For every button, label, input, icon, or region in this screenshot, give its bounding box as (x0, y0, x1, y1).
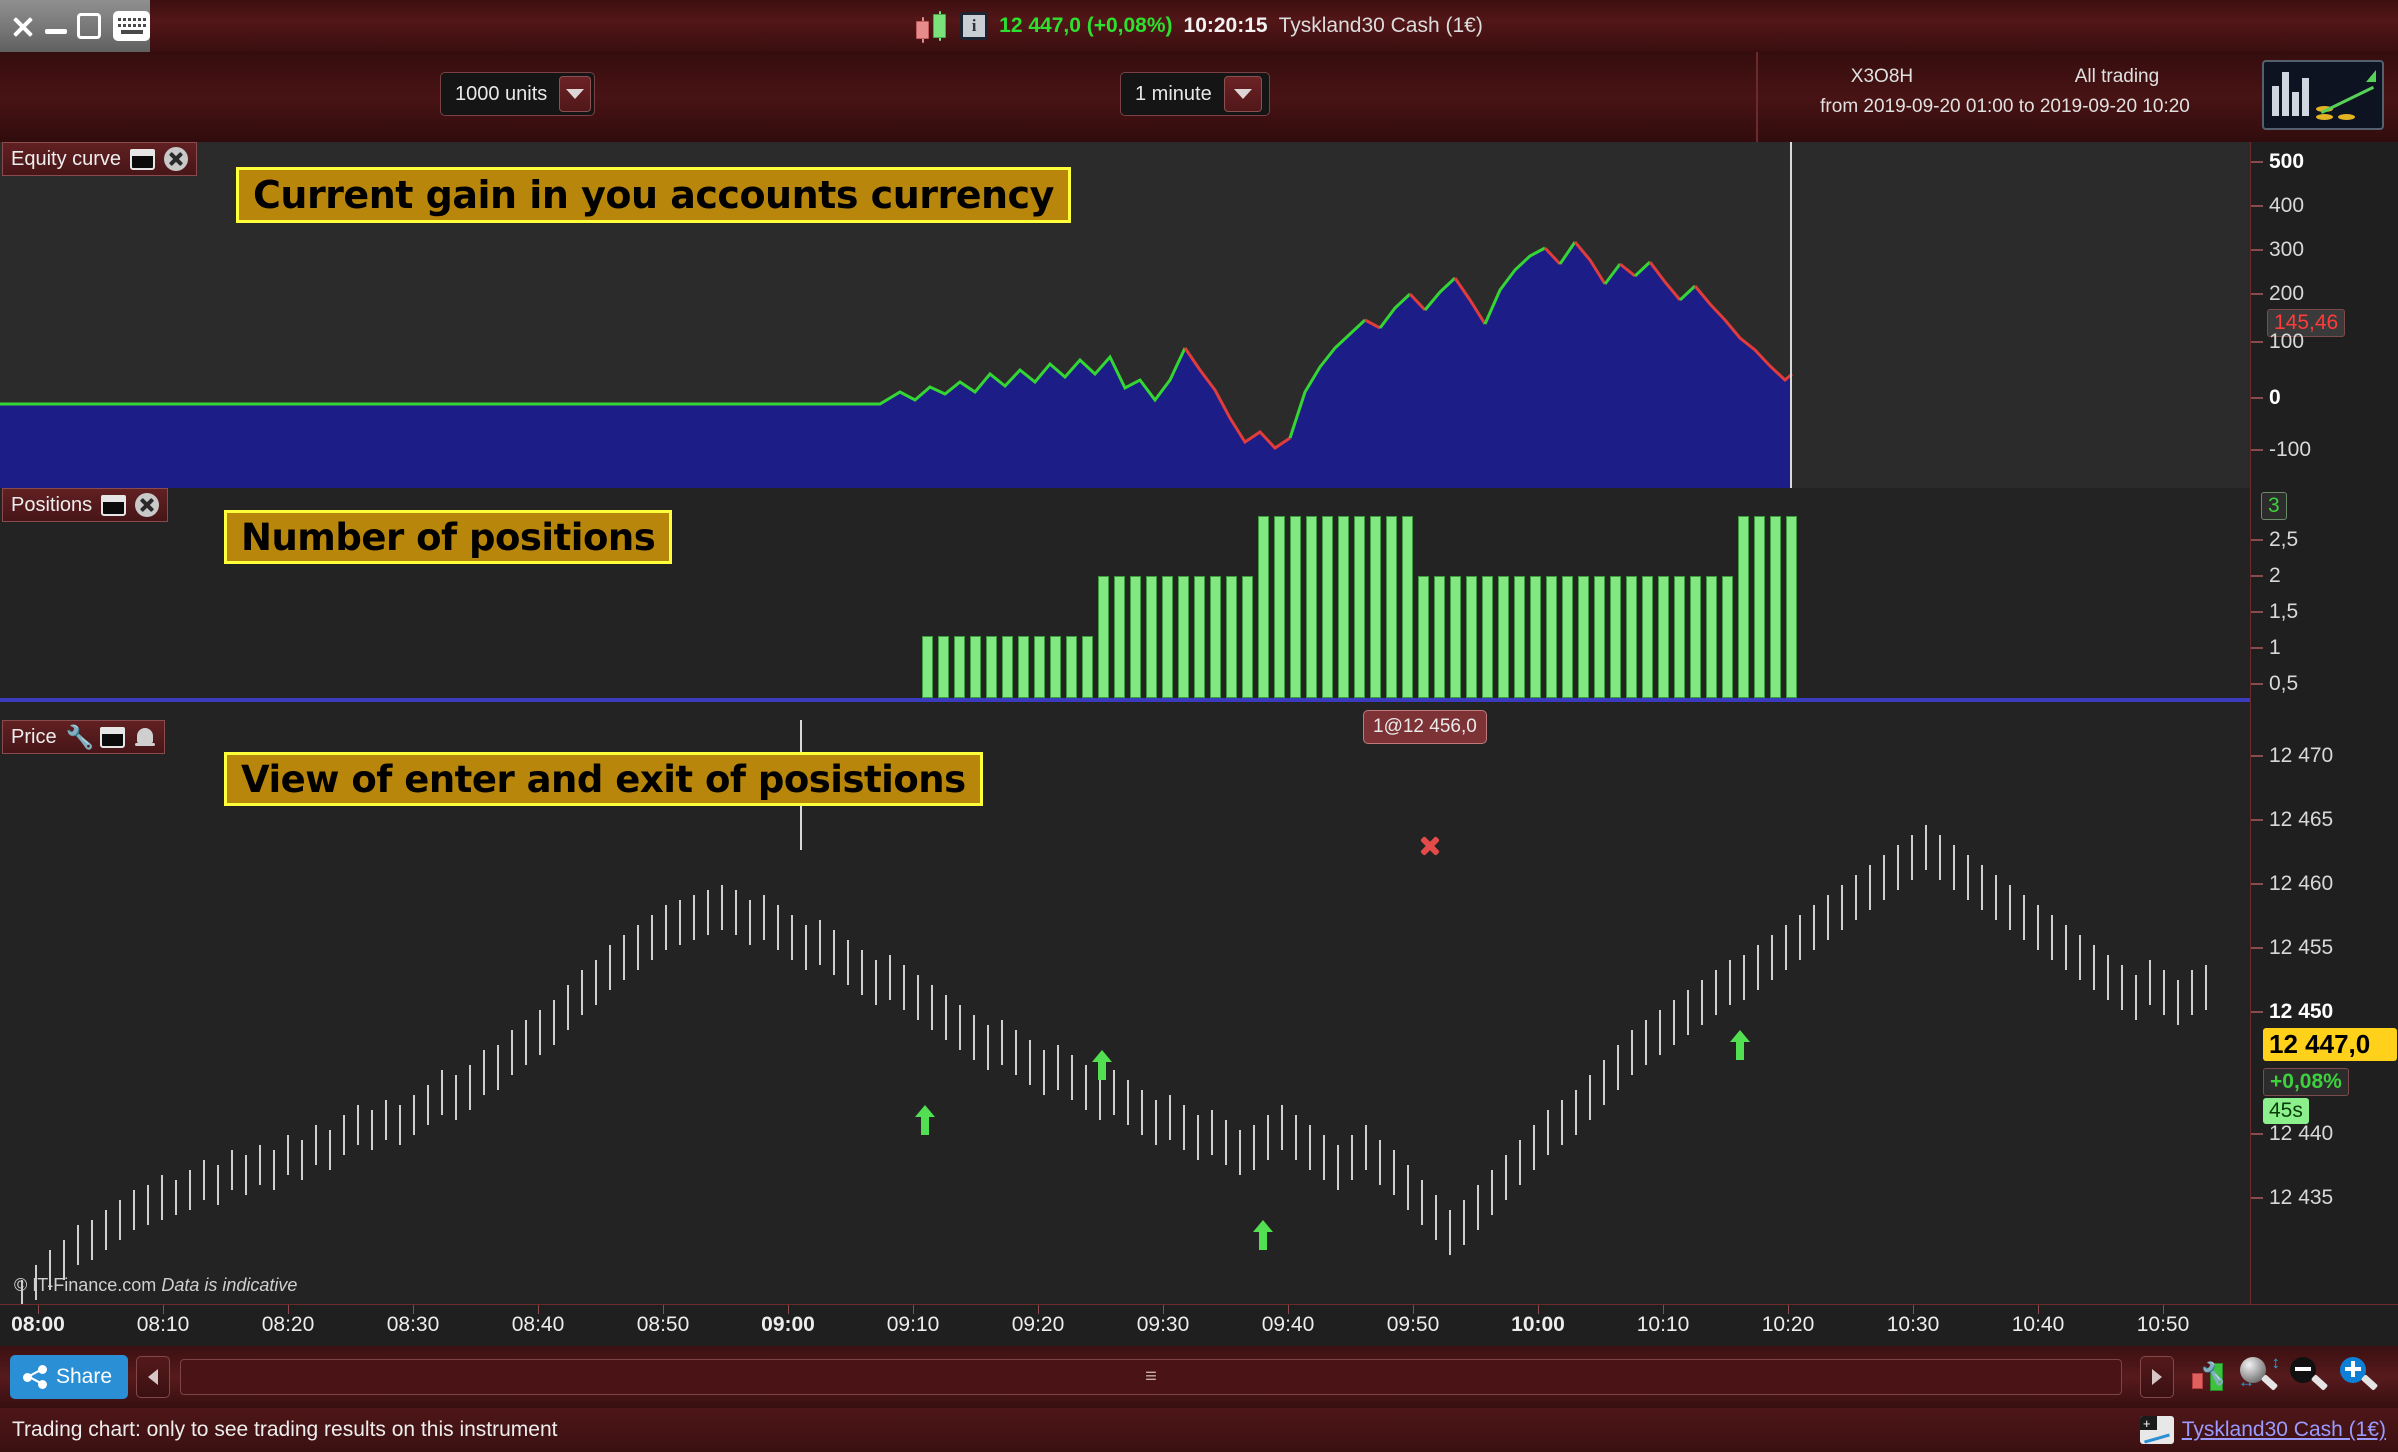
position-bar (1498, 576, 1509, 698)
crosshair-line (1790, 142, 1792, 488)
position-bar (1546, 576, 1557, 698)
chart-settings-icon[interactable]: 🔧 (2188, 1355, 2232, 1399)
status-bar: Trading chart: only to see trading resul… (0, 1408, 2398, 1452)
close-icon[interactable] (164, 147, 188, 171)
position-bar (1034, 636, 1045, 698)
platform-logo-icon (2262, 60, 2384, 130)
callout-equity: Current gain in you accounts currency (236, 167, 1071, 223)
title-instrument: Tyskland30 Cash (1€) (1279, 14, 1483, 38)
window-controls (0, 0, 150, 52)
price-axis[interactable]: 12 470 12 465 12 460 12 455 12 450 12 44… (2250, 720, 2398, 1304)
position-bar (1722, 576, 1733, 698)
callout-positions: Number of positions (224, 510, 672, 564)
time-label: 09:40 (1262, 1313, 1315, 1337)
exit-marker-icon (1419, 835, 1441, 857)
nav-left-icon[interactable] (136, 1356, 170, 1398)
callout-positions-text: Number of positions (241, 516, 655, 559)
time-label: 08:00 (11, 1313, 65, 1337)
positions-current-badge: 3 (2261, 492, 2287, 520)
minimize-icon[interactable] (45, 15, 65, 37)
buy-arrow-icon (1092, 1050, 1112, 1080)
position-bar (1114, 576, 1125, 698)
units-dropdown[interactable]: 1000 units (440, 72, 595, 116)
position-bar (1482, 576, 1493, 698)
position-bar (1274, 516, 1285, 698)
time-label: 08:30 (387, 1313, 440, 1337)
axis-tick: 12 460 (2269, 872, 2333, 895)
axis-tick: 0 (2269, 386, 2281, 409)
axis-tick: 12 455 (2269, 936, 2333, 959)
position-bar (1658, 576, 1669, 698)
price-current-badge: 12 447,0 (2263, 1028, 2397, 1061)
position-bar (1050, 636, 1061, 698)
equity-panel-header[interactable]: Equity curve (2, 142, 197, 176)
axis-tick: 100 (2269, 330, 2304, 353)
position-bar (1018, 636, 1029, 698)
position-bar (1370, 516, 1381, 698)
position-bar (1242, 576, 1253, 698)
position-bar (1642, 576, 1653, 698)
horizontal-scrollbar[interactable]: ≡ (180, 1359, 2122, 1395)
position-bar (1226, 576, 1237, 698)
maximize-icon[interactable] (130, 149, 155, 170)
position-bar (1402, 516, 1413, 698)
time-label: 09:20 (1012, 1313, 1065, 1337)
position-bar (1466, 576, 1477, 698)
zoom-fit-icon[interactable]: ↔↕ (2238, 1355, 2282, 1399)
copyright-notice: © IT-Finance.com Data is indicative (14, 1275, 297, 1296)
time-label: 10:50 (2137, 1313, 2190, 1337)
time-label: 08:40 (512, 1313, 565, 1337)
position-bar (1194, 576, 1205, 698)
equity-curve-panel: Equity curve Current gain in you account… (0, 142, 2250, 488)
units-dropdown-label: 1000 units (455, 83, 547, 106)
axis-tick: 400 (2269, 194, 2304, 217)
time-label: 09:10 (887, 1313, 940, 1337)
position-bar (1514, 576, 1525, 698)
axis-tick: 1,5 (2269, 600, 2298, 623)
title-price: 12 447,0 (+0,08%) (999, 14, 1172, 38)
position-bar (1562, 576, 1573, 698)
copyright-note: Data is indicative (161, 1275, 297, 1295)
time-label: 09:30 (1137, 1313, 1190, 1337)
share-button[interactable]: Share (10, 1355, 128, 1399)
positions-panel: Positions Number of positions (0, 488, 2250, 720)
status-message: Trading chart: only to see trading resul… (12, 1418, 558, 1442)
trade-tag-sell[interactable]: 1@12 456,0 (1363, 710, 1487, 744)
time-label: 08:20 (262, 1313, 315, 1337)
toolbar-divider (1756, 52, 1758, 142)
axis-tick: 12 470 (2269, 744, 2333, 767)
price-panel-title: Price (11, 726, 57, 749)
axis-tick: 2 (2269, 564, 2281, 587)
position-bar (970, 636, 981, 698)
position-bar (1610, 576, 1621, 698)
position-bar (986, 636, 997, 698)
position-bar (1594, 576, 1605, 698)
axis-tick: 1 (2269, 636, 2281, 659)
time-axis[interactable]: 08:00 08:10 08:20 08:30 08:40 08:50 09:0… (0, 1304, 2398, 1346)
trading-mode: All trading (2075, 62, 2160, 92)
position-bar (1386, 516, 1397, 698)
maximize-icon[interactable] (100, 727, 125, 748)
position-bar (1338, 516, 1349, 698)
time-label: 10:20 (1762, 1313, 1815, 1337)
position-bar (1786, 516, 1797, 698)
position-bar (1082, 636, 1093, 698)
position-bar (1210, 576, 1221, 698)
axis-tick: 200 (2269, 282, 2304, 305)
session-code: X3O8H (1851, 62, 1913, 92)
position-bar (1674, 576, 1685, 698)
price-bars-svg (0, 720, 2250, 1304)
price-change-badge: +0,08% (2263, 1068, 2349, 1096)
timeframe-dropdown-label: 1 minute (1135, 83, 1212, 106)
chevron-down-icon[interactable] (559, 76, 591, 112)
equity-price-axis[interactable]: 500 400 300 200 145,46 100 0 -100 (2250, 142, 2398, 488)
title-bar: i 12 447,0 (+0,08%) 10:20:15 Tyskland30 … (0, 0, 2398, 52)
price-panel-header[interactable]: Price 🔧 (2, 720, 165, 754)
price-chart-canvas[interactable]: © IT-Finance.com Data is indicative (0, 720, 2250, 1304)
position-bar (1434, 576, 1445, 698)
position-bar (1706, 576, 1717, 698)
position-bar (1098, 576, 1109, 698)
positions-panel-header[interactable]: Positions (2, 488, 168, 522)
chevron-down-icon[interactable] (1224, 76, 1262, 112)
close-icon[interactable] (135, 493, 159, 517)
position-bar (1130, 576, 1141, 698)
bell-icon[interactable] (134, 725, 156, 749)
scroll-handle[interactable]: ≡ (1145, 1366, 1157, 1389)
position-bar (1162, 576, 1173, 698)
zoom-out-icon[interactable] (2288, 1355, 2332, 1399)
time-label: 10:10 (1637, 1313, 1690, 1337)
equity-panel-title: Equity curve (11, 148, 121, 171)
position-bar (1306, 516, 1317, 698)
buy-arrow-icon (915, 1105, 935, 1135)
session-info: X3O8H All trading from 2019-09-20 01:00 … (1770, 62, 2240, 122)
position-bar (1530, 576, 1541, 698)
callout-price: View of enter and exit of posistions (224, 752, 983, 806)
bottom-toolbar: Share ≡ 🔧 ↔↕ (0, 1346, 2398, 1408)
keyboard-icon[interactable] (113, 11, 150, 41)
position-bar (1418, 576, 1429, 698)
title-center: i 12 447,0 (+0,08%) 10:20:15 Tyskland30 … (150, 11, 2248, 41)
axis-tick: 2,5 (2269, 528, 2298, 551)
price-panel: © IT-Finance.com Data is indicative Pric… (0, 720, 2250, 1304)
position-bar (1178, 576, 1189, 698)
title-time: 10:20:15 (1184, 14, 1268, 38)
position-bar (938, 636, 949, 698)
copyright-brand: © IT-Finance.com (14, 1275, 156, 1295)
axis-tick: 12 440 (2269, 1122, 2333, 1145)
position-bar (1450, 576, 1461, 698)
axis-tick: -100 (2269, 438, 2311, 461)
axis-tick: 12 435 (2269, 1186, 2333, 1209)
status-right: + Tyskland30 Cash (1€) (2140, 1416, 2386, 1444)
time-label: 10:30 (1887, 1313, 1940, 1337)
positions-baseline (0, 698, 2250, 702)
position-bar (1066, 636, 1077, 698)
axis-tick: 12 465 (2269, 808, 2333, 831)
time-label: 08:10 (137, 1313, 190, 1337)
nav-right-icon[interactable] (2140, 1356, 2174, 1398)
position-bar (1146, 576, 1157, 698)
position-bar (1770, 516, 1781, 698)
axis-tick: 0,5 (2269, 672, 2298, 695)
close-icon[interactable] (10, 13, 33, 39)
axis-tick: 12 450 (2269, 1000, 2333, 1023)
axis-tick: 300 (2269, 238, 2304, 261)
instrument-icon: + (2140, 1416, 2174, 1444)
buy-arrow-icon (1730, 1030, 1750, 1060)
instrument-link[interactable]: Tyskland30 Cash (1€) (2182, 1418, 2386, 1442)
axis-tick: 500 (2269, 150, 2304, 173)
maximize-icon[interactable] (77, 13, 101, 39)
time-label: 10:00 (1511, 1313, 1565, 1337)
trade-tag-label: 1@12 456,0 (1373, 716, 1477, 738)
buy-arrow-icon (1253, 1220, 1273, 1250)
candlestick-icon (915, 11, 949, 41)
callout-price-text: View of enter and exit of posistions (241, 758, 966, 801)
time-label: 08:50 (637, 1313, 690, 1337)
time-label: 10:40 (2012, 1313, 2065, 1337)
positions-axis[interactable]: 3 2,5 2 1,5 1 0,5 (2250, 488, 2398, 720)
position-bar (1322, 516, 1333, 698)
callout-equity-text: Current gain in you accounts currency (253, 173, 1054, 217)
position-bar (1258, 516, 1269, 698)
timeframe-dropdown[interactable]: 1 minute (1120, 72, 1270, 116)
maximize-icon[interactable] (101, 495, 126, 516)
zoom-in-icon[interactable] (2338, 1355, 2382, 1399)
position-bar (1738, 516, 1749, 698)
share-button-label: Share (56, 1365, 112, 1389)
position-bar (1290, 516, 1301, 698)
position-bar (1354, 516, 1365, 698)
position-bar (1578, 576, 1589, 698)
positions-panel-title: Positions (11, 494, 92, 517)
info-icon[interactable]: i (960, 12, 988, 40)
position-bar (922, 636, 933, 698)
time-label: 09:50 (1387, 1313, 1440, 1337)
position-bar (1690, 576, 1701, 698)
position-bar (1754, 516, 1765, 698)
position-bar (1002, 636, 1013, 698)
session-range: from 2019-09-20 01:00 to 2019-09-20 10:2… (1770, 92, 2240, 122)
wrench-icon[interactable]: 🔧 (66, 725, 91, 750)
share-icon (22, 1364, 48, 1390)
trading-chart-window: i 12 447,0 (+0,08%) 10:20:15 Tyskland30 … (0, 0, 2398, 1452)
position-bar (1626, 576, 1637, 698)
position-bar (954, 636, 965, 698)
time-label: 09:00 (761, 1313, 815, 1337)
candle-countdown-badge: 45s (2263, 1098, 2309, 1124)
